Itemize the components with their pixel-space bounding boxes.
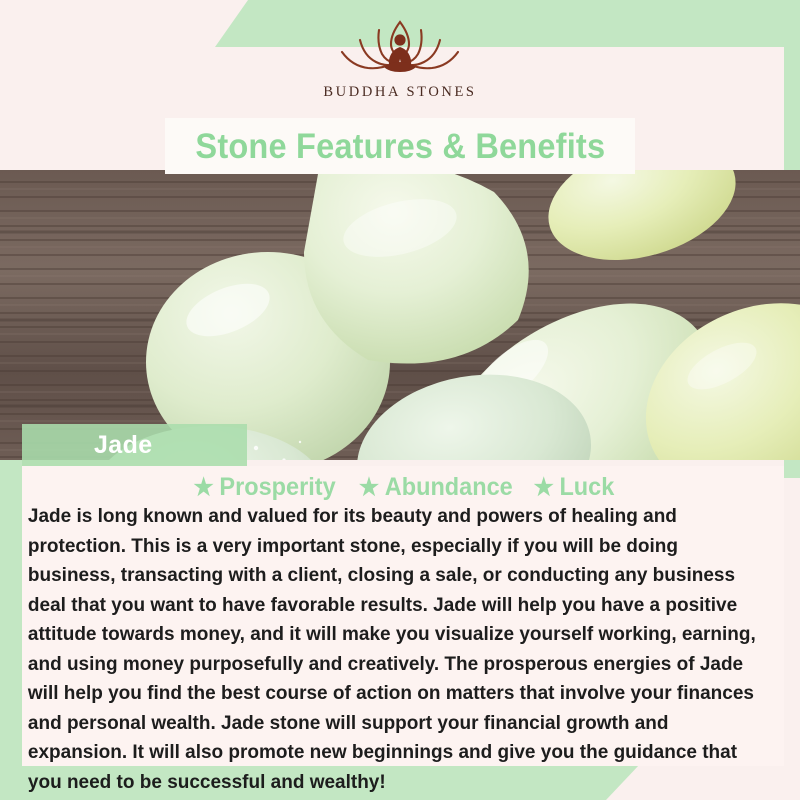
jade-stones-photo (0, 170, 800, 460)
infographic-card: BUDDHA STONES Stone Features & Benefits … (0, 0, 800, 800)
brand-header: BUDDHA STONES (0, 0, 800, 118)
star-icon: ★ (193, 476, 213, 500)
keyword-item-luck: ★ Luck (534, 475, 615, 500)
keyword-item-prosperity: ★ Prosperity (193, 475, 335, 500)
stone-name: Jade (94, 433, 153, 458)
brand-wordmark: BUDDHA STONES (323, 84, 476, 101)
keyword-label: Prosperity (219, 475, 335, 500)
section-title-banner: Stone Features & Benefits (165, 118, 635, 174)
stone-description: Jade is long known and valued for its be… (22, 502, 773, 797)
stone-name-chip: Jade (22, 424, 247, 466)
keyword-item-abundance: ★ Abundance (359, 475, 513, 500)
keyword-label: Abundance (385, 475, 513, 500)
content-panel: ★ Prosperity ★ Abundance ★ Luck Jade is … (22, 466, 784, 766)
page-title: Stone Features & Benefits (195, 129, 605, 164)
jade-stones-illustration (0, 170, 800, 460)
keyword-label: Luck (560, 475, 615, 500)
keyword-list: ★ Prosperity ★ Abundance ★ Luck (22, 466, 784, 500)
star-icon: ★ (359, 476, 379, 500)
star-icon: ★ (534, 476, 554, 500)
lotus-meditation-figure-icon (334, 18, 466, 80)
